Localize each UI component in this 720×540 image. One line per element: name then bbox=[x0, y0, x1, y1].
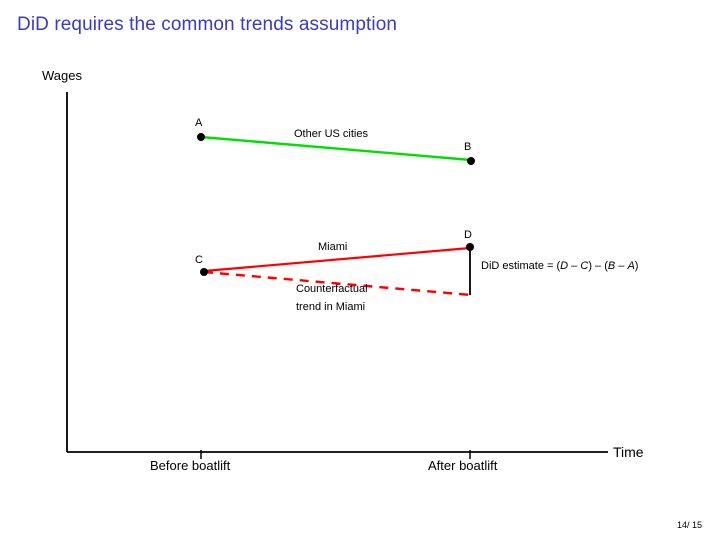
did-formula-a: A bbox=[627, 260, 634, 272]
point-d-marker bbox=[466, 243, 474, 251]
did-diagram bbox=[0, 0, 720, 500]
point-d-label: D bbox=[464, 229, 472, 241]
x-axis-label: Time bbox=[613, 444, 644, 460]
did-estimate-formula: DiD estimate = (D – C) – (B – A) bbox=[481, 260, 638, 272]
y-axis-label: Wages bbox=[42, 68, 82, 83]
counterfactual-label-line2: trend in Miami bbox=[296, 301, 365, 313]
did-formula-minus2: – bbox=[615, 260, 627, 272]
point-a-marker bbox=[197, 133, 205, 141]
counterfactual-label-line1: Counterfactual bbox=[296, 283, 368, 295]
point-b-marker bbox=[467, 157, 475, 165]
point-c-label: C bbox=[195, 254, 203, 266]
page-number: 14/ 15 bbox=[677, 520, 702, 530]
point-a-label: A bbox=[195, 117, 202, 129]
did-formula-prefix: DiD estimate = ( bbox=[481, 260, 560, 272]
control-trend-line bbox=[201, 137, 471, 160]
point-c-marker bbox=[200, 268, 208, 276]
did-formula-minus1: – bbox=[568, 260, 580, 272]
slide: DiD requires the common trends assumptio… bbox=[0, 0, 720, 540]
did-formula-suffix: ) bbox=[635, 260, 639, 272]
point-b-label: B bbox=[464, 141, 471, 153]
did-formula-d: D bbox=[560, 260, 568, 272]
did-formula-mid: ) – ( bbox=[588, 260, 608, 272]
control-series-label: Other US cities bbox=[294, 128, 368, 140]
x-tick-label-before: Before boatlift bbox=[150, 458, 230, 473]
treatment-series-label: Miami bbox=[318, 241, 347, 253]
x-tick-label-after: After boatlift bbox=[428, 458, 497, 473]
